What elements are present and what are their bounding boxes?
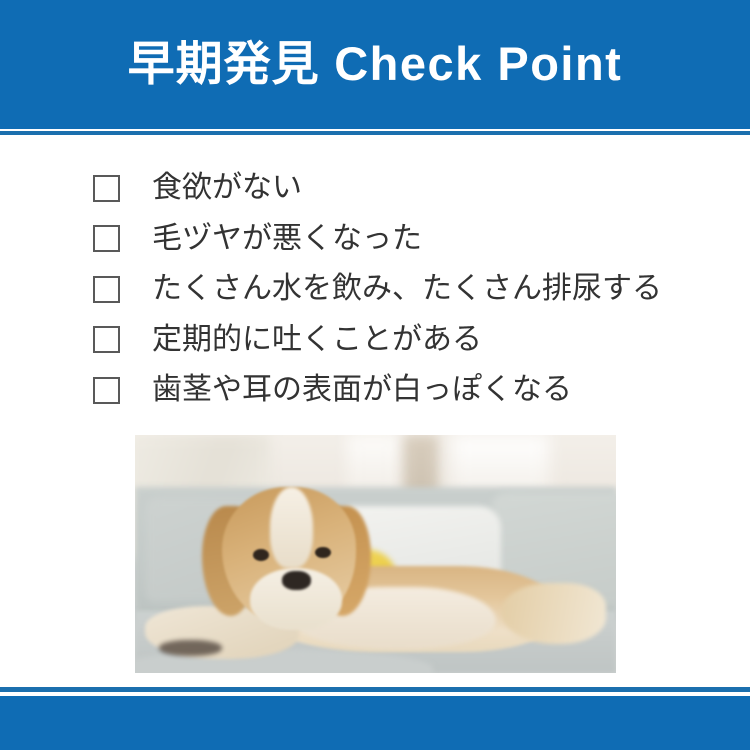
dog-photo (135, 435, 616, 673)
photo-dog-nose (282, 571, 311, 590)
checkbox-icon[interactable] (93, 276, 120, 303)
header-banner: 早期発見 Check Point (0, 0, 750, 129)
page-title: 早期発見 Check Point (128, 40, 623, 87)
check-point-card: 早期発見 Check Point 食欲がない 毛ヅヤが悪くなった たくさん水を飲… (0, 0, 750, 750)
checklist-item-label: たくさん水を飲み、たくさん排尿する (152, 274, 662, 304)
symptom-checklist: 食欲がない 毛ヅヤが悪くなった たくさん水を飲み、たくさん排尿する 定期的に吐く… (93, 163, 713, 416)
checklist-item-label: 毛ヅヤが悪くなった (152, 224, 422, 254)
checklist-item[interactable]: 食欲がない (93, 163, 713, 214)
checklist-item-label: 歯茎や耳の表面が白っぽくなる (152, 375, 572, 405)
footer-banner (0, 696, 750, 750)
photo-dog-forehead-blaze (270, 487, 313, 568)
footer-divider-rule (0, 687, 750, 692)
checklist-item[interactable]: 定期的に吐くことがある (93, 315, 713, 366)
dog-photo-scene (135, 435, 616, 673)
checklist-item[interactable]: 毛ヅヤが悪くなった (93, 214, 713, 265)
checklist-item-label: 定期的に吐くことがある (152, 325, 482, 355)
photo-dog-paw-pad (159, 640, 222, 657)
header-divider-rule (0, 131, 750, 135)
checkbox-icon[interactable] (93, 175, 120, 202)
page-title-japanese: 早期発見 (128, 37, 320, 90)
photo-dog-eye-right (315, 547, 330, 558)
checkbox-icon[interactable] (93, 225, 120, 252)
checkbox-icon[interactable] (93, 326, 120, 353)
checklist-item[interactable]: 歯茎や耳の表面が白っぽくなる (93, 365, 713, 416)
checkbox-icon[interactable] (93, 377, 120, 404)
checklist-item[interactable]: たくさん水を飲み、たくさん排尿する (93, 264, 713, 315)
checklist-item-label: 食欲がない (152, 173, 302, 203)
page-title-english: Check Point (320, 37, 623, 90)
